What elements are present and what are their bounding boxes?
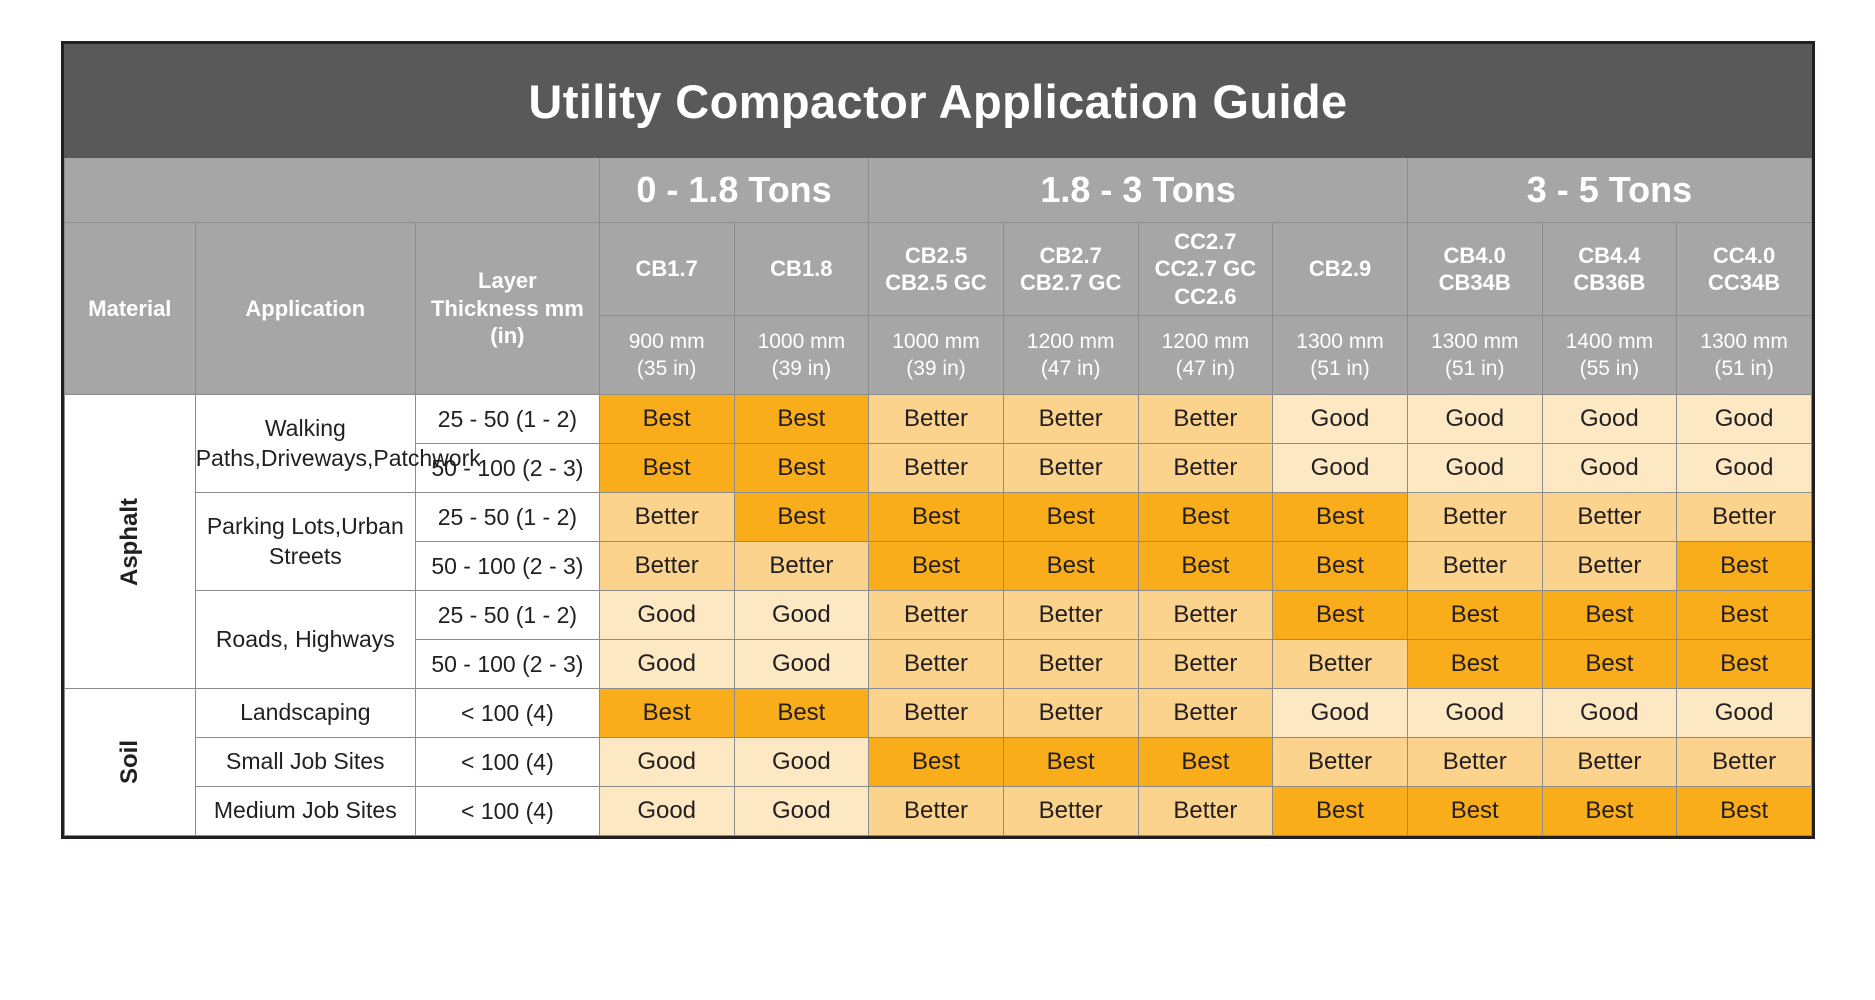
drum-width-0: 900 mm(35 in) — [599, 316, 734, 395]
drum-width-6: 1300 mm(51 in) — [1407, 316, 1542, 395]
rating-cell: Better — [1407, 542, 1542, 591]
rating-cell: Better — [734, 542, 869, 591]
rating-cell: Best — [599, 395, 734, 444]
table-row: Small Job Sites< 100 (4)GoodGoodBestBest… — [65, 738, 1812, 787]
rating-cell: Better — [1003, 787, 1138, 836]
rating-cell: Good — [1542, 689, 1677, 738]
application-label-line: Driveways, — [261, 445, 373, 471]
application-label-line: Landscaping — [240, 699, 370, 725]
rating-cell: Good — [1542, 444, 1677, 493]
rating-cell: Best — [1273, 542, 1408, 591]
application-label: Walking Paths,Driveways,Patchwork — [195, 395, 415, 493]
header-layer-thickness-line: (in) — [416, 322, 599, 350]
rating-cell: Better — [1273, 640, 1408, 689]
application-guide-table-container: Utility Compactor Application Guide 0 - … — [61, 41, 1815, 839]
model-name-line: CB1.8 — [735, 255, 869, 283]
model-header-3: CB2.7CB2.7 GC — [1003, 223, 1138, 316]
model-name-line: CB34B — [1408, 269, 1542, 297]
application-guide-table: Utility Compactor Application Guide 0 - … — [64, 44, 1812, 836]
rating-cell: Good — [734, 787, 869, 836]
rating-cell: Best — [1273, 787, 1408, 836]
drum-width-line: (51 in) — [1408, 355, 1542, 382]
rating-cell: Best — [599, 689, 734, 738]
model-name-line: CB4.0 — [1408, 242, 1542, 270]
drum-width-line: (51 in) — [1273, 355, 1407, 382]
drum-width-line: (47 in) — [1139, 355, 1273, 382]
header-layer-thickness: LayerThickness mm(in) — [415, 223, 599, 395]
rating-cell: Better — [1003, 591, 1138, 640]
tonnage-group-header: 3 - 5 Tons — [1407, 158, 1811, 223]
model-name-line: CC4.0 — [1677, 242, 1811, 270]
drum-width-line: (51 in) — [1677, 355, 1811, 382]
rating-cell: Good — [1407, 395, 1542, 444]
table-row: AsphaltWalking Paths,Driveways,Patchwork… — [65, 395, 1812, 444]
table-row: SoilLandscaping< 100 (4)BestBestBetterBe… — [65, 689, 1812, 738]
header-layer-thickness-line: Layer — [416, 267, 599, 295]
rating-cell: Good — [1407, 689, 1542, 738]
layer-thickness-value: < 100 (4) — [415, 689, 599, 738]
layer-thickness-value: 50 - 100 (2 - 3) — [415, 542, 599, 591]
layer-thickness-value: 25 - 50 (1 - 2) — [415, 395, 599, 444]
rating-cell: Better — [1003, 444, 1138, 493]
rating-cell: Good — [599, 640, 734, 689]
model-name-line: CB1.7 — [600, 255, 734, 283]
title-row: Utility Compactor Application Guide — [65, 45, 1812, 158]
model-name-line: CB36B — [1543, 269, 1677, 297]
model-header-2: CB2.5CB2.5 GC — [869, 223, 1004, 316]
model-header-1: CB1.8 — [734, 223, 869, 316]
rating-cell: Good — [599, 787, 734, 836]
tonnage-group-header: 0 - 1.8 Tons — [599, 158, 868, 223]
application-label-line: Small Job Sites — [226, 748, 385, 774]
rating-cell: Better — [1677, 493, 1812, 542]
drum-width-line: 1200 mm — [1004, 328, 1138, 355]
rating-cell: Better — [1542, 542, 1677, 591]
model-name-line: CC2.7 GC — [1139, 255, 1273, 283]
rating-cell: Better — [869, 787, 1004, 836]
rating-cell: Good — [599, 738, 734, 787]
drum-width-line: (35 in) — [600, 355, 734, 382]
layer-thickness-value: < 100 (4) — [415, 738, 599, 787]
rating-cell: Better — [1677, 738, 1812, 787]
drum-width-line: (39 in) — [735, 355, 869, 382]
drum-width-line: 1000 mm — [869, 328, 1003, 355]
application-label: Medium Job Sites — [195, 787, 415, 836]
rating-cell: Good — [1273, 689, 1408, 738]
model-header-6: CB4.0CB34B — [1407, 223, 1542, 316]
material-label-soil: Soil — [65, 689, 196, 836]
rating-cell: Best — [1677, 591, 1812, 640]
rating-cell: Better — [869, 689, 1004, 738]
rating-cell: Best — [1003, 542, 1138, 591]
drum-width-7: 1400 mm(55 in) — [1542, 316, 1677, 395]
drum-width-line: 1300 mm — [1677, 328, 1811, 355]
rating-cell: Good — [1273, 395, 1408, 444]
model-header-4: CC2.7CC2.7 GCCC2.6 — [1138, 223, 1273, 316]
rating-cell: Best — [1273, 493, 1408, 542]
rating-cell: Good — [734, 591, 869, 640]
rating-cell: Best — [1407, 787, 1542, 836]
rating-cell: Best — [1542, 787, 1677, 836]
layer-thickness-value: 25 - 50 (1 - 2) — [415, 493, 599, 542]
rating-cell: Good — [1407, 444, 1542, 493]
rating-cell: Best — [1273, 591, 1408, 640]
model-name-line: CB2.7 GC — [1004, 269, 1138, 297]
rating-cell: Best — [869, 542, 1004, 591]
rating-cell: Good — [1677, 395, 1812, 444]
rating-cell: Better — [869, 395, 1004, 444]
rating-cell: Better — [1407, 738, 1542, 787]
rating-cell: Best — [869, 493, 1004, 542]
rating-cell: Better — [869, 640, 1004, 689]
rating-cell: Better — [1542, 738, 1677, 787]
rating-cell: Better — [1542, 493, 1677, 542]
rating-cell: Best — [1138, 542, 1273, 591]
rating-cell: Better — [1138, 591, 1273, 640]
rating-cell: Better — [1003, 395, 1138, 444]
model-name-line: CB2.7 — [1004, 242, 1138, 270]
header-spacer — [65, 158, 600, 223]
rating-cell: Best — [1407, 640, 1542, 689]
model-name-line: CB2.5 GC — [869, 269, 1003, 297]
rating-cell: Better — [1003, 689, 1138, 738]
rating-cell: Better — [869, 591, 1004, 640]
material-label-text: Soil — [116, 740, 144, 784]
drum-width-line: 1200 mm — [1139, 328, 1273, 355]
drum-width-line: (47 in) — [1004, 355, 1138, 382]
model-name-line: CC2.6 — [1139, 283, 1273, 311]
page-root: Utility Compactor Application Guide 0 - … — [0, 0, 1875, 1000]
rating-cell: Best — [1003, 738, 1138, 787]
drum-width-line: 900 mm — [600, 328, 734, 355]
model-header-8: CC4.0CC34B — [1677, 223, 1812, 316]
model-name-line: CB2.5 — [869, 242, 1003, 270]
rating-cell: Better — [1138, 787, 1273, 836]
layer-thickness-value: < 100 (4) — [415, 787, 599, 836]
rating-cell: Best — [1407, 591, 1542, 640]
drum-width-line: 1300 mm — [1408, 328, 1542, 355]
application-label: Roads, Highways — [195, 591, 415, 689]
rating-cell: Good — [734, 640, 869, 689]
rating-cell: Better — [1138, 444, 1273, 493]
model-name-line: CC34B — [1677, 269, 1811, 297]
rating-cell: Better — [1407, 493, 1542, 542]
layer-thickness-value: 50 - 100 (2 - 3) — [415, 640, 599, 689]
application-label: Small Job Sites — [195, 738, 415, 787]
drum-width-line: 1300 mm — [1273, 328, 1407, 355]
rating-cell: Better — [599, 542, 734, 591]
rating-cell: Best — [1677, 640, 1812, 689]
model-header-7: CB4.4CB36B — [1542, 223, 1677, 316]
material-label-asphalt: Asphalt — [65, 395, 196, 689]
header-layer-thickness-line: Thickness mm — [416, 295, 599, 323]
application-label: Parking Lots,Urban Streets — [195, 493, 415, 591]
drum-width-5: 1300 mm(51 in) — [1273, 316, 1408, 395]
rating-cell: Better — [1138, 689, 1273, 738]
rating-cell: Good — [599, 591, 734, 640]
rating-cell: Best — [1138, 493, 1273, 542]
material-label-text: Asphalt — [116, 497, 144, 585]
rating-cell: Best — [734, 493, 869, 542]
rating-cell: Good — [1677, 444, 1812, 493]
model-header-5: CB2.9 — [1273, 223, 1408, 316]
rating-cell: Good — [1273, 444, 1408, 493]
rating-cell: Better — [1273, 738, 1408, 787]
header-material: Material — [65, 223, 196, 395]
table-row: Parking Lots,Urban Streets25 - 50 (1 - 2… — [65, 493, 1812, 542]
rating-cell: Best — [1677, 542, 1812, 591]
application-label-line: Medium Job Sites — [214, 797, 397, 823]
drum-width-4: 1200 mm(47 in) — [1138, 316, 1273, 395]
rating-cell: Best — [734, 444, 869, 493]
rating-cell: Better — [1003, 640, 1138, 689]
model-name-row: MaterialApplicationLayerThickness mm(in)… — [65, 223, 1812, 316]
table-head: Utility Compactor Application Guide 0 - … — [65, 45, 1812, 395]
model-name-line: CB2.9 — [1273, 255, 1407, 283]
drum-width-1: 1000 mm(39 in) — [734, 316, 869, 395]
table-row: Medium Job Sites< 100 (4)GoodGoodBetterB… — [65, 787, 1812, 836]
application-label-line: Roads, Highways — [216, 626, 395, 652]
drum-width-line: 1400 mm — [1543, 328, 1677, 355]
rating-cell: Best — [1542, 640, 1677, 689]
rating-cell: Better — [599, 493, 734, 542]
tonnage-group-row: 0 - 1.8 Tons1.8 - 3 Tons3 - 5 Tons — [65, 158, 1812, 223]
drum-width-3: 1200 mm(47 in) — [1003, 316, 1138, 395]
application-label: Landscaping — [195, 689, 415, 738]
rating-cell: Better — [1138, 640, 1273, 689]
rating-cell: Better — [869, 444, 1004, 493]
rating-cell: Best — [599, 444, 734, 493]
drum-width-line: 1000 mm — [735, 328, 869, 355]
rating-cell: Best — [1677, 787, 1812, 836]
model-header-0: CB1.7 — [599, 223, 734, 316]
rating-cell: Best — [1003, 493, 1138, 542]
rating-cell: Better — [1138, 395, 1273, 444]
table-body: AsphaltWalking Paths,Driveways,Patchwork… — [65, 395, 1812, 836]
rating-cell: Best — [1138, 738, 1273, 787]
rating-cell: Best — [1542, 591, 1677, 640]
drum-width-line: (39 in) — [869, 355, 1003, 382]
tonnage-group-header: 1.8 - 3 Tons — [869, 158, 1408, 223]
rating-cell: Best — [869, 738, 1004, 787]
rating-cell: Best — [734, 689, 869, 738]
model-name-line: CB4.4 — [1543, 242, 1677, 270]
rating-cell: Good — [734, 738, 869, 787]
drum-width-line: (55 in) — [1543, 355, 1677, 382]
header-application: Application — [195, 223, 415, 395]
application-label-line: Parking Lots, — [207, 513, 341, 539]
model-name-line: CC2.7 — [1139, 228, 1273, 256]
layer-thickness-value: 25 - 50 (1 - 2) — [415, 591, 599, 640]
drum-width-2: 1000 mm(39 in) — [869, 316, 1004, 395]
rating-cell: Best — [734, 395, 869, 444]
drum-width-8: 1300 mm(51 in) — [1677, 316, 1812, 395]
rating-cell: Good — [1677, 689, 1812, 738]
table-row: Roads, Highways25 - 50 (1 - 2)GoodGoodBe… — [65, 591, 1812, 640]
rating-cell: Good — [1542, 395, 1677, 444]
page-title: Utility Compactor Application Guide — [65, 45, 1812, 158]
